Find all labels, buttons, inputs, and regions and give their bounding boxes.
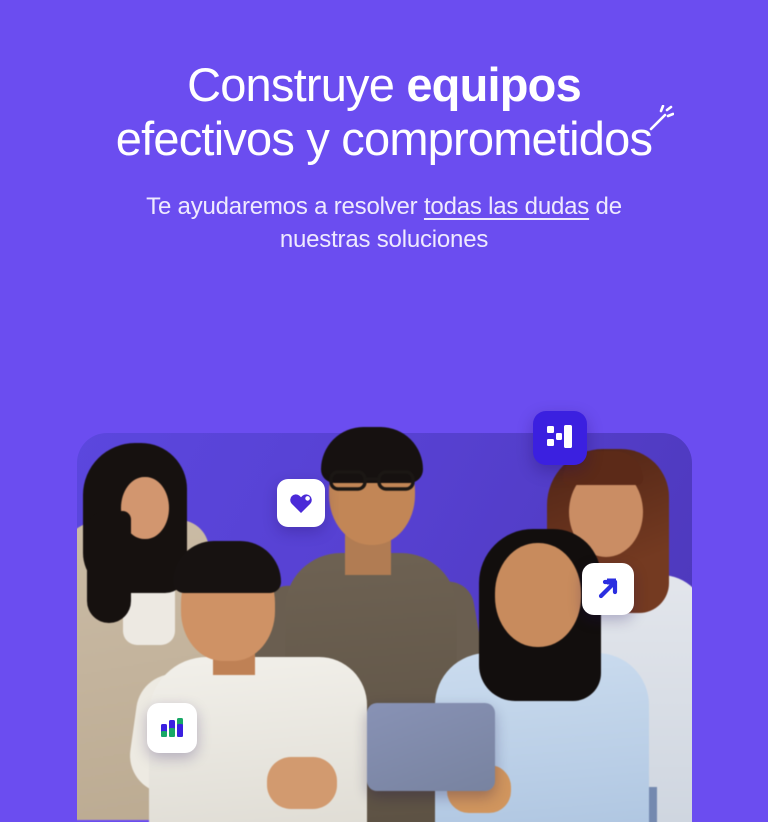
bar-chart-icon xyxy=(159,715,185,741)
badge-brand[interactable] xyxy=(533,411,587,465)
person-man-front-hand xyxy=(267,757,337,809)
page-subtitle: Te ayudaremos a resolver todas las dudas… xyxy=(0,190,768,256)
badge-heart[interactable] xyxy=(277,479,325,527)
headline-line-2-text: efectivos y comprometidos xyxy=(116,112,652,165)
page-title: Construye equipos efectivos y comprometi… xyxy=(0,58,768,166)
subtitle-suffix: de xyxy=(589,193,622,220)
laptop xyxy=(367,703,495,791)
hero-section: Construye equipos efectivos y comprometi… xyxy=(0,0,768,822)
heart-icon xyxy=(288,490,314,516)
brand-logo-icon xyxy=(545,423,575,453)
subtitle-highlight: todas las dudas xyxy=(424,193,589,220)
badge-arrow[interactable] xyxy=(582,563,634,615)
team-photo-stage xyxy=(77,425,692,822)
hero-copy: Construye equipos efectivos y comprometi… xyxy=(0,0,768,256)
person-woman-left-hair-strand xyxy=(87,511,131,623)
headline-line-1: Construye equipos xyxy=(0,58,768,112)
arrow-up-right-icon xyxy=(594,575,622,603)
subtitle-line-2: nuestras soluciones xyxy=(0,223,768,256)
subtitle-prefix: Te ayudaremos a resolver xyxy=(146,193,424,220)
headline-regular: Construye xyxy=(187,58,406,111)
headline-line-2: efectivos y comprometidos xyxy=(0,112,768,166)
headline-line-2-wrap: efectivos y comprometidos xyxy=(116,112,652,166)
badge-chart[interactable] xyxy=(147,703,197,753)
subtitle-line-1: Te ayudaremos a resolver todas las dudas… xyxy=(0,190,768,223)
headline-emphasis: equipos xyxy=(406,58,581,111)
team-photo xyxy=(77,425,692,822)
person-man-front-hair xyxy=(173,541,281,593)
person-woman-front-head xyxy=(495,543,581,647)
glasses-icon xyxy=(329,469,417,491)
